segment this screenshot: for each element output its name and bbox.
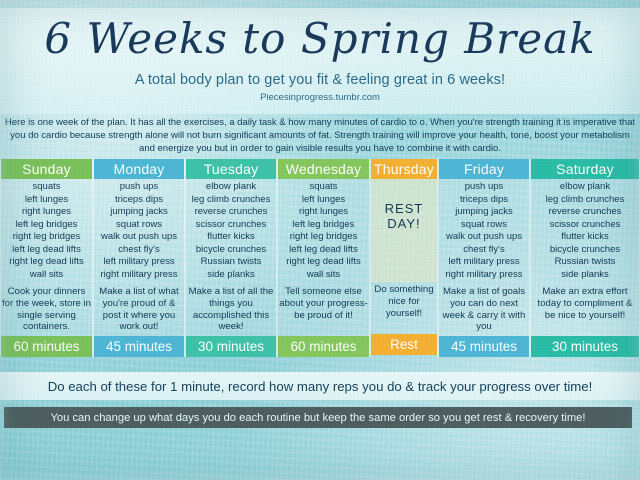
exercise-item: left lunges <box>278 194 369 207</box>
exercise-item: left leg dead lifts <box>1 244 92 257</box>
exercise-item: elbow plank <box>531 181 639 194</box>
exercise-item: left leg bridges <box>278 219 369 232</box>
day-header-monday: Monday <box>94 159 184 179</box>
daily-task-wednesday: Tell someone else about your progress- b… <box>278 284 369 336</box>
weekly-calendar-grid: Sundaysquatsleft lungesright lungesleft … <box>0 159 640 357</box>
daily-task-thursday: Do something nice for yourself! <box>371 282 437 334</box>
day-column-wednesday: Wednesdaysquatsleft lungesright lungesle… <box>277 159 370 357</box>
exercise-item: Russian twists <box>186 256 276 269</box>
exercise-item: bicycle crunches <box>531 244 639 257</box>
daily-task-friday: Make a list of goals you can do next wee… <box>439 284 529 336</box>
page-subtitle: A total body plan to get you fit & feeli… <box>0 72 640 89</box>
page-title: 6 Weeks to Spring Break <box>0 14 640 64</box>
exercise-item: reverse crunches <box>531 206 639 219</box>
exercise-item: right military press <box>94 269 184 282</box>
exercise-item: chest fly's <box>439 244 529 257</box>
intro-paragraph: Here is one week of the plan. It has all… <box>4 116 636 156</box>
exercise-item: wall sits <box>1 269 92 282</box>
day-header-tuesday: Tuesday <box>186 159 276 179</box>
day-column-saturday: Saturdayelbow plankleg climb crunchesrev… <box>530 159 640 357</box>
exercise-item: side planks <box>531 269 639 282</box>
exercise-item: right leg bridges <box>278 231 369 244</box>
exercise-item: triceps dips <box>94 194 184 207</box>
source-credit: Piecesinprogress.tumbr.com <box>0 92 640 103</box>
day-header-wednesday: Wednesday <box>278 159 369 179</box>
day-column-friday: Fridaypush upstriceps dipsjumping jackss… <box>438 159 530 357</box>
exercise-item: squats <box>1 181 92 194</box>
exercise-item: left military press <box>439 256 529 269</box>
day-header-saturday: Saturday <box>531 159 639 179</box>
exercise-list-monday: push upstriceps dipsjumping jackssquat r… <box>94 179 184 284</box>
exercise-item: left military press <box>94 256 184 269</box>
exercise-item: scissor crunches <box>186 219 276 232</box>
exercise-item: right leg bridges <box>1 231 92 244</box>
exercise-list-saturday: elbow plankleg climb crunchesreverse cru… <box>531 179 639 284</box>
exercise-item: flutter kicks <box>531 231 639 244</box>
exercise-item: right lunges <box>1 206 92 219</box>
exercise-item: reverse crunches <box>186 206 276 219</box>
exercise-item: walk out push ups <box>439 231 529 244</box>
exercise-list-thursday: RESTDAY! <box>371 179 437 282</box>
footer-note-secondary: You can change up what days you do each … <box>4 407 632 428</box>
exercise-item: scissor crunches <box>531 219 639 232</box>
exercise-list-tuesday: elbow plankleg climb crunchesreverse cru… <box>186 179 276 284</box>
cardio-minutes-tuesday: 30 minutes <box>186 336 276 357</box>
exercise-item: push ups <box>439 181 529 194</box>
day-column-tuesday: Tuesdayelbow plankleg climb crunchesreve… <box>185 159 277 357</box>
infographic-page: 6 Weeks to Spring Break A total body pla… <box>0 0 640 480</box>
exercise-item: push ups <box>94 181 184 194</box>
exercise-item: Russian twists <box>531 256 639 269</box>
day-column-sunday: Sundaysquatsleft lungesright lungesleft … <box>0 159 93 357</box>
exercise-item: right leg dead lifts <box>278 256 369 269</box>
exercise-item: left leg bridges <box>1 219 92 232</box>
day-column-monday: Mondaypush upstriceps dipsjumping jackss… <box>93 159 185 357</box>
cardio-minutes-monday: 45 minutes <box>94 336 184 357</box>
exercise-item: triceps dips <box>439 194 529 207</box>
exercise-item: REST <box>371 201 437 216</box>
exercise-item: flutter kicks <box>186 231 276 244</box>
exercise-item: side planks <box>186 269 276 282</box>
exercise-item: leg climb crunches <box>531 194 639 207</box>
day-header-sunday: Sunday <box>1 159 92 179</box>
exercise-item: left lunges <box>1 194 92 207</box>
exercise-item: DAY! <box>371 216 437 231</box>
cardio-minutes-saturday: 30 minutes <box>531 336 639 357</box>
cardio-minutes-thursday: Rest <box>371 334 437 355</box>
exercise-item: left leg dead lifts <box>278 244 369 257</box>
exercise-item: bicycle crunches <box>186 244 276 257</box>
day-header-friday: Friday <box>439 159 529 179</box>
exercise-item: leg climb crunches <box>186 194 276 207</box>
cardio-minutes-sunday: 60 minutes <box>1 336 92 357</box>
exercise-item: squats <box>278 181 369 194</box>
exercise-item: right lunges <box>278 206 369 219</box>
cardio-minutes-friday: 45 minutes <box>439 336 529 357</box>
daily-task-sunday: Cook your dinners for the week, store in… <box>1 284 92 336</box>
exercise-item: elbow plank <box>186 181 276 194</box>
day-column-thursday: ThursdayRESTDAY!Do something nice for yo… <box>370 159 438 357</box>
exercise-item: chest fly's <box>94 244 184 257</box>
exercise-item: squat rows <box>439 219 529 232</box>
footer-note-primary: Do each of these for 1 minute, record ho… <box>0 372 640 400</box>
exercise-item: jumping jacks <box>439 206 529 219</box>
daily-task-tuesday: Make a list of all the things you accomp… <box>186 284 276 336</box>
exercise-item: right leg dead lifts <box>1 256 92 269</box>
cardio-minutes-wednesday: 60 minutes <box>278 336 369 357</box>
daily-task-monday: Make a list of what you're proud of & po… <box>94 284 184 336</box>
exercise-list-sunday: squatsleft lungesright lungesleft leg br… <box>1 179 92 284</box>
exercise-item: jumping jacks <box>94 206 184 219</box>
exercise-item: squat rows <box>94 219 184 232</box>
day-header-thursday: Thursday <box>371 159 437 179</box>
exercise-item: walk out push ups <box>94 231 184 244</box>
exercise-item: wall sits <box>278 269 369 282</box>
exercise-list-wednesday: squatsleft lungesright lungesleft leg br… <box>278 179 369 284</box>
exercise-item: right military press <box>439 269 529 282</box>
daily-task-saturday: Make an extra effort today to compliment… <box>531 284 639 336</box>
exercise-list-friday: push upstriceps dipsjumping jackssquat r… <box>439 179 529 284</box>
